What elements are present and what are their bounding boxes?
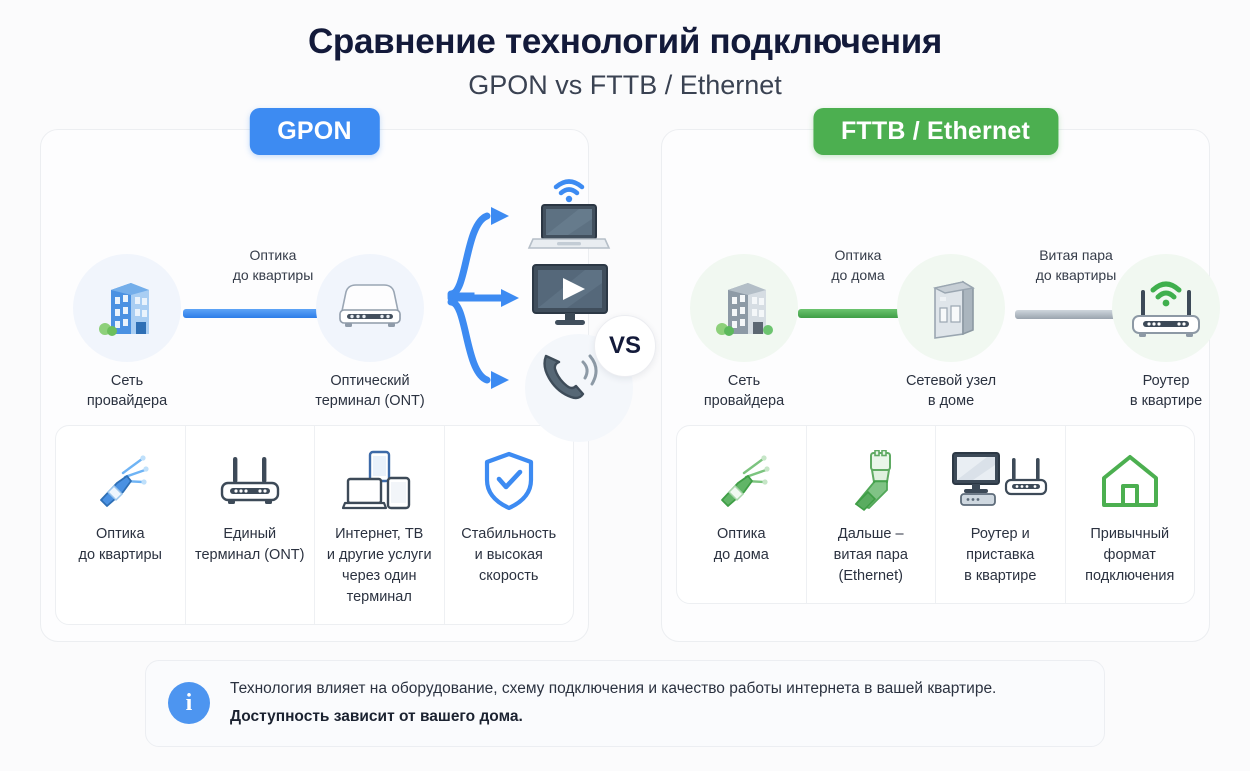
node-bubble (1112, 254, 1220, 362)
card-icon-wrap (711, 444, 771, 518)
card-text: Привычный формат подключения (1085, 524, 1174, 587)
card-text: Интернет, ТВ и другие услуги через один … (327, 524, 432, 608)
node-label-line2: терминал (ONT) (310, 392, 430, 412)
node-bubble (73, 254, 181, 362)
card-line: формат (1085, 545, 1174, 566)
card-text: Роутер и приставка в квартире (964, 524, 1036, 587)
node-label: Роутер в квартире (1106, 372, 1226, 411)
card-line: и другие услуги (327, 545, 432, 566)
node-optical-terminal: Оптический терминал (ONT) (310, 254, 430, 411)
card-line: терминал (ONT) (195, 545, 305, 566)
card-icon-wrap (1098, 444, 1162, 518)
node-label-line1: Сеть (67, 372, 187, 392)
router-icon (214, 453, 286, 509)
card-line: Оптика (714, 524, 769, 545)
card-icon-wrap (842, 444, 900, 518)
node-label-line2: провайдера (684, 392, 804, 412)
fiber-cable-icon (711, 452, 771, 510)
card-line: Дальше – (834, 524, 908, 545)
node-label-line2: в квартире (1106, 392, 1226, 412)
node-bubble (897, 254, 1005, 362)
card-line: до дома (714, 545, 769, 566)
card-icon-wrap (481, 444, 537, 518)
panel-gpon: GPON Оптика до квартиры (40, 129, 589, 642)
card-line: Интернет, ТВ (327, 524, 432, 545)
card-line: Привычный (1085, 524, 1174, 545)
endpoint-laptop (523, 172, 615, 261)
ont-modem-icon (332, 278, 408, 338)
card-line: до квартиры (79, 545, 162, 566)
feature-card: Оптика до дома (677, 426, 807, 603)
node-label-line1: Роутер (1106, 372, 1226, 392)
node-label: Сетевой узел в доме (891, 372, 1011, 411)
card-text: Единый терминал (ONT) (195, 524, 305, 566)
card-line: витая пара (834, 545, 908, 566)
page-title: Сравнение технологий подключения (0, 22, 1250, 62)
card-icon-wrap (214, 444, 286, 518)
vs-badge: VS (594, 315, 656, 377)
feature-card: Привычный формат подключения (1066, 426, 1195, 603)
node-bubble (316, 254, 424, 362)
card-icon-wrap (90, 444, 150, 518)
footer-note: i Технология влияет на оборудование, схе… (145, 660, 1105, 747)
node-label: Сеть провайдера (684, 372, 804, 411)
node-label-line1: Сетевой узел (891, 372, 1011, 392)
gpon-feature-cards: Оптика до квартиры (55, 425, 574, 625)
multi-device-icon (342, 450, 416, 512)
node-label-line1: Сеть (684, 372, 804, 392)
feature-card: Роутер и приставка в квартире (936, 426, 1066, 603)
card-line: Роутер и (964, 524, 1036, 545)
page-header: Сравнение технологий подключения GPON vs… (0, 0, 1250, 101)
card-line: и высокая (461, 545, 556, 566)
fttb-feature-cards: Оптика до дома Дальше – (676, 425, 1195, 604)
card-line: в квартире (964, 566, 1036, 587)
server-cabinet-icon (919, 272, 983, 344)
card-icon-wrap (342, 444, 416, 518)
panel-badge-fttb: FTTB / Ethernet (813, 108, 1058, 155)
card-line: Оптика (79, 524, 162, 545)
feature-card: Оптика до квартиры (56, 426, 186, 624)
node-flat-router: Роутер в квартире (1106, 254, 1226, 411)
node-bubble (690, 254, 798, 362)
node-label: Сеть провайдера (67, 372, 187, 411)
card-line: терминал (327, 587, 432, 608)
card-text: Дальше – витая пара (Ethernet) (834, 524, 908, 587)
office-building-icon (91, 272, 163, 344)
fiber-cable-icon (90, 452, 150, 510)
comparison-panels: GPON Оптика до квартиры (0, 129, 1250, 642)
node-network-node: Сетевой узел в доме (891, 254, 1011, 411)
card-icon-wrap (951, 444, 1049, 518)
note-line-1: Технология влияет на оборудование, схему… (230, 677, 996, 702)
home-icon (1098, 452, 1162, 510)
card-line: скорость (461, 566, 556, 587)
panel-badge-gpon: GPON (249, 108, 379, 155)
wifi-router-icon (1123, 272, 1209, 344)
card-line: Стабильность (461, 524, 556, 545)
card-line: приставка (964, 545, 1036, 566)
node-provider-network-gpon: Сеть провайдера (67, 254, 187, 411)
node-label-line2: провайдера (67, 392, 187, 412)
ethernet-plug-icon (842, 450, 900, 512)
note-text: Технология влияет на оборудование, схему… (230, 677, 996, 730)
card-line: через один (327, 566, 432, 587)
tv-play-icon (527, 261, 613, 331)
note-line-2: Доступность зависит от вашего дома. (230, 705, 996, 730)
node-provider-network-fttb: Сеть провайдера (684, 254, 804, 411)
shield-check-icon (481, 450, 537, 512)
node-label-line1: Оптический (310, 372, 430, 392)
tv-router-icon (951, 450, 1049, 512)
feature-card: Стабильность и высокая скорость (445, 426, 574, 624)
card-line: Единый (195, 524, 305, 545)
card-text: Стабильность и высокая скорость (461, 524, 556, 587)
panel-fttb: FTTB / Ethernet Оптика до дома Витая пар… (661, 129, 1210, 642)
endpoint-tv (527, 261, 613, 336)
feature-card: Интернет, ТВ и другие услуги через один … (315, 426, 445, 624)
office-building-icon (708, 272, 780, 344)
feature-card: Дальше – витая пара (Ethernet) (807, 426, 937, 603)
card-text: Оптика до квартиры (79, 524, 162, 566)
node-label: Оптический терминал (ONT) (310, 372, 430, 411)
card-line: (Ethernet) (834, 566, 908, 587)
gpon-flow-diagram: Оптика до квартиры (55, 164, 574, 419)
fttb-flow-diagram: Оптика до дома Витая пара до квартиры (676, 164, 1195, 419)
card-line: подключения (1085, 566, 1174, 587)
laptop-wifi-icon (523, 172, 615, 256)
card-text: Оптика до дома (714, 524, 769, 566)
node-label-line2: в доме (891, 392, 1011, 412)
page-subtitle: GPON vs FTTB / Ethernet (0, 70, 1250, 101)
feature-card: Единый терминал (ONT) (186, 426, 316, 624)
info-icon: i (168, 682, 210, 724)
